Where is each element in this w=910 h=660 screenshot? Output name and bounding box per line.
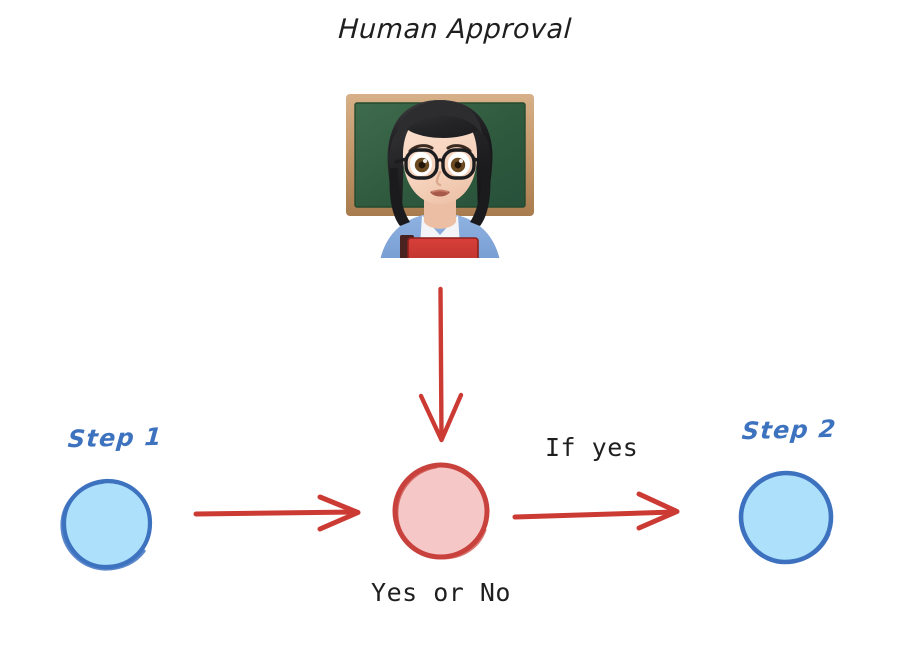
node-step1[interactable] <box>62 481 150 569</box>
node-label-step2: Step 2 <box>741 415 838 445</box>
woman-teacher-emoji <box>338 72 542 258</box>
teacher-eye-glint-right <box>459 159 463 163</box>
edge-label-if-yes: If yes <box>545 433 638 462</box>
teacher-eye-glint-left <box>423 159 427 163</box>
woman-teacher-emoji-art <box>338 72 542 258</box>
page-title: Human Approval <box>0 14 910 45</box>
node-label-step1: Step 1 <box>67 423 164 453</box>
arrow-step1-to-decision <box>196 497 358 529</box>
node-decision[interactable] <box>395 465 487 558</box>
arrow-human-to-decision <box>421 289 461 440</box>
teacher-book-red <box>408 238 478 258</box>
node-label-decision: Yes or No <box>0 578 882 607</box>
arrow-decision-to-step2 <box>515 494 677 528</box>
node-step2[interactable] <box>741 473 831 562</box>
